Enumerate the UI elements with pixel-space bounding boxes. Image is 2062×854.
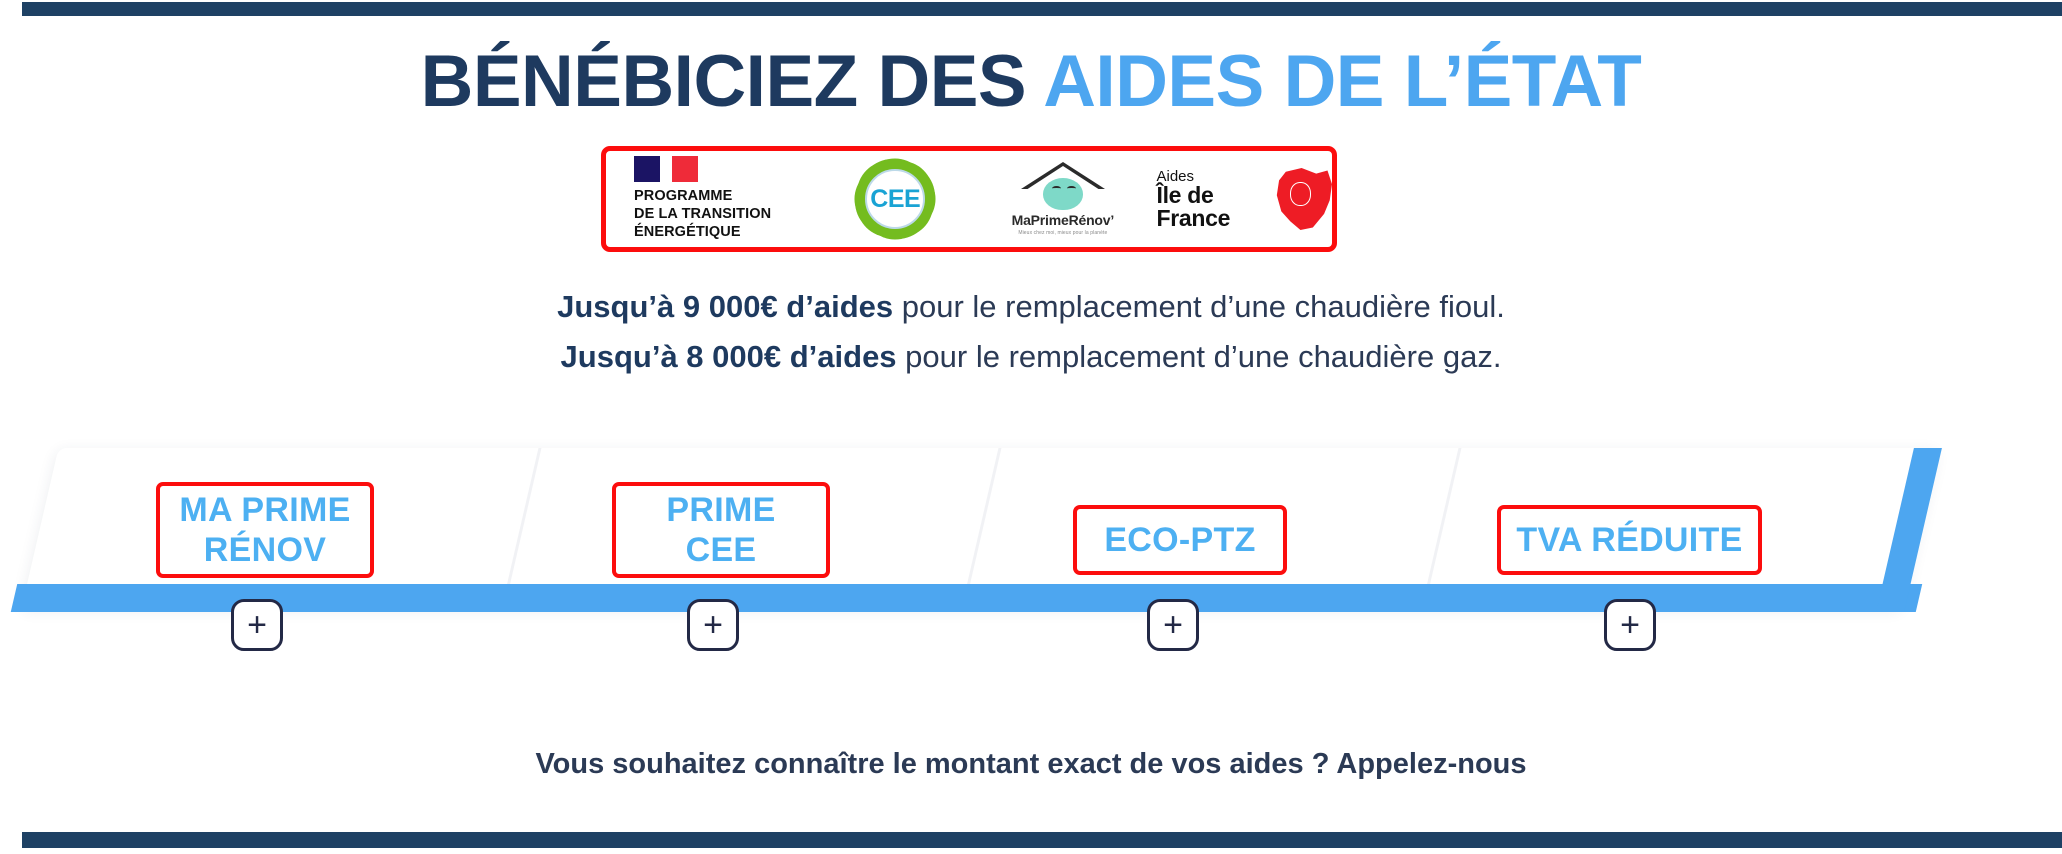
- page-title-dark: BÉNÉBICIEZ DES: [421, 41, 1026, 122]
- call-to-action-text: Vous souhaitez connaître le montant exac…: [0, 748, 2062, 781]
- aid-label-line1: PRIME: [666, 491, 775, 529]
- aid-label-line1: MA PRIME: [179, 491, 350, 529]
- maprimerenov-logo: MaPrimeRénov’ Mieux chez moi, mieux pour…: [969, 151, 1156, 247]
- aid-amount-line: Jusqu’à 8 000€ d’aides pour le remplacem…: [0, 332, 2062, 382]
- house-face-icon: [1021, 162, 1105, 210]
- aid-amount-rest: pour le remplacement d’une chaudière fio…: [893, 289, 1505, 324]
- pte-line-3: ÉNERGÉTIQUE: [634, 224, 771, 242]
- pte-line-1: PROGRAMME: [634, 188, 771, 206]
- cee-badge-icon: CEE: [857, 161, 933, 237]
- cee-label: CEE: [870, 185, 920, 214]
- programme-transition-energetique-logo: PROGRAMME DE LA TRANSITION ÉNERGÉTIQUE: [606, 151, 821, 247]
- aid-box-ma-prime-renov[interactable]: MA PRIME RÉNOV: [156, 482, 374, 578]
- aid-box-eco-ptz[interactable]: ECO-PTZ: [1073, 505, 1287, 575]
- aid-label-line2: CEE: [686, 531, 757, 569]
- expand-button-tva-reduite[interactable]: +: [1604, 599, 1656, 651]
- top-rule: [22, 2, 2062, 16]
- idf-label-big: Île de France: [1157, 184, 1270, 230]
- page-title: BÉNÉBICIEZ DES AIDES DE L’ÉTAT: [0, 44, 2062, 121]
- aides-ile-de-france-logo: Aides Île de France: [1157, 151, 1332, 247]
- plus-icon: +: [1163, 608, 1183, 642]
- aides-etat-page: BÉNÉBICIEZ DES AIDES DE L’ÉTAT PROGRAMME…: [0, 0, 2062, 854]
- aid-box-prime-cee[interactable]: PRIME CEE: [612, 482, 830, 578]
- page-title-light: AIDES DE L’ÉTAT: [1043, 41, 1641, 122]
- aid-box-tva-reduite[interactable]: TVA RÉDUITE: [1497, 505, 1762, 575]
- aid-amount-rest: pour le remplacement d’une chaudière gaz…: [897, 339, 1502, 374]
- aid-amount-bold: Jusqu’à 8 000€ d’aides: [561, 339, 897, 374]
- aids-banner: MA PRIME RÉNOV + PRIME CEE + ECO-PTZ + T…: [0, 440, 2062, 660]
- plus-icon: +: [1620, 608, 1640, 642]
- partner-logo-strip: PROGRAMME DE LA TRANSITION ÉNERGÉTIQUE C…: [601, 146, 1337, 252]
- ile-de-france-map-icon: [1276, 168, 1332, 230]
- maprimerenov-tagline: Mieux chez moi, mieux pour la planète: [1018, 230, 1107, 236]
- aid-label-line2: RÉNOV: [204, 531, 326, 569]
- aid-amount-bold: Jusqu’à 9 000€ d’aides: [557, 289, 893, 324]
- aid-amount-line: Jusqu’à 9 000€ d’aides pour le remplacem…: [0, 282, 2062, 332]
- french-flag-icon: [634, 156, 698, 182]
- expand-button-eco-ptz[interactable]: +: [1147, 599, 1199, 651]
- aid-label-line1: TVA RÉDUITE: [1516, 520, 1742, 560]
- cee-logo: CEE: [821, 151, 969, 247]
- expand-button-prime-cee[interactable]: +: [687, 599, 739, 651]
- pte-line-2: DE LA TRANSITION: [634, 206, 771, 224]
- aid-amounts: Jusqu’à 9 000€ d’aides pour le remplacem…: [0, 282, 2062, 382]
- maprimerenov-label: MaPrimeRénov’: [1012, 212, 1114, 228]
- expand-button-ma-prime-renov[interactable]: +: [231, 599, 283, 651]
- aid-label-line1: ECO-PTZ: [1104, 520, 1255, 560]
- plus-icon: +: [247, 608, 267, 642]
- bottom-rule: [22, 832, 2062, 848]
- plus-icon: +: [703, 608, 723, 642]
